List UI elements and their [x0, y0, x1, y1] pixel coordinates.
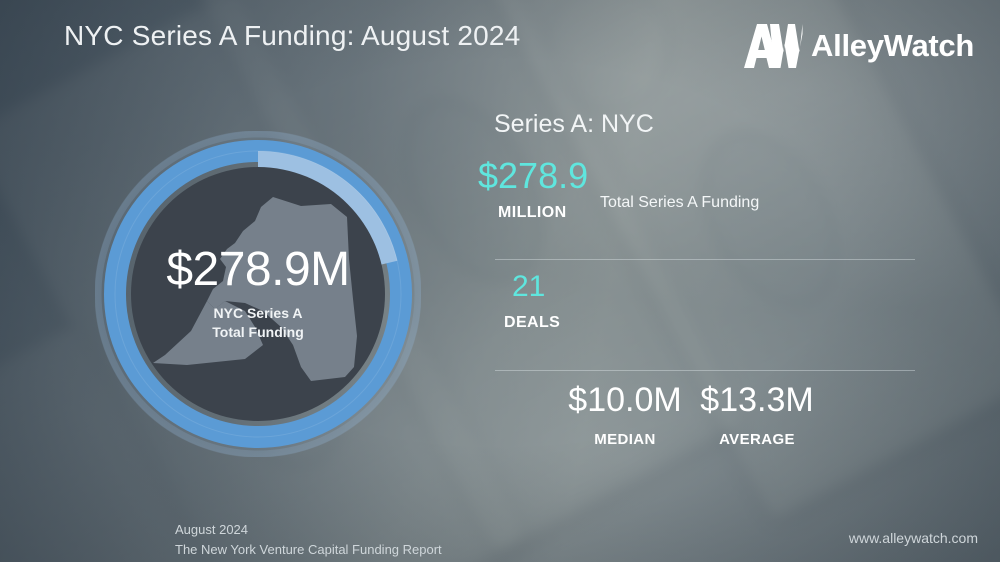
stat-average-value: $13.3M: [692, 383, 822, 417]
divider-bottom: [495, 370, 915, 371]
stat-median: $10.0M MEDIAN: [560, 383, 690, 448]
panel-title: Series A: NYC: [494, 110, 654, 139]
divider-top: [495, 259, 915, 260]
stat-deals-unit: DEALS: [504, 314, 560, 332]
donut-chart: $278.9M NYC Series A Total Funding: [95, 131, 421, 457]
stat-average: $13.3M AVERAGE: [692, 383, 822, 448]
footer-date: August 2024: [175, 520, 442, 540]
stat-average-unit: AVERAGE: [692, 431, 822, 448]
stat-deals-value: 21: [512, 272, 545, 302]
stats-panel: Series A: NYC $278.9 MILLION Total Serie…: [470, 100, 940, 500]
logo-wordmark: AlleyWatch: [811, 28, 974, 64]
footer-report-title: The New York Venture Capital Funding Rep…: [175, 540, 442, 560]
footer-left: August 2024 The New York Venture Capital…: [175, 520, 442, 559]
footer-website: www.alleywatch.com: [849, 530, 978, 546]
alleywatch-logo: AlleyWatch: [743, 22, 974, 70]
stat-total-description: Total Series A Funding: [600, 194, 759, 212]
infographic-canvas: NYC Series A Funding: August 2024 AlleyW…: [0, 0, 1000, 562]
stat-total-unit: MILLION: [498, 204, 567, 222]
aw-monogram-icon: [743, 22, 803, 70]
donut-graphic: [95, 131, 421, 457]
stat-total-value: $278.9: [478, 158, 588, 194]
stat-median-value: $10.0M: [560, 383, 690, 417]
stat-median-unit: MEDIAN: [560, 431, 690, 448]
page-title: NYC Series A Funding: August 2024: [64, 20, 520, 52]
